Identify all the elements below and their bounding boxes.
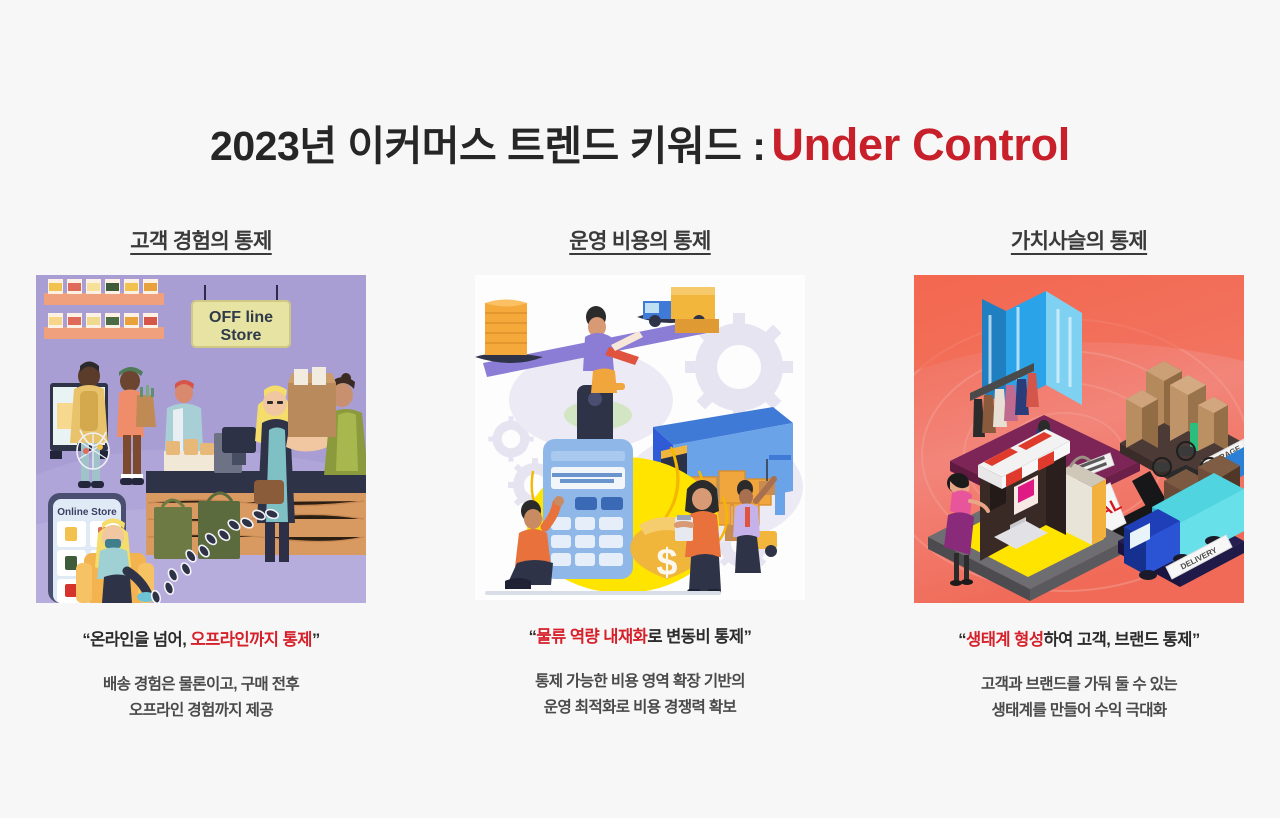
column-value-chain: 가치사슬의 통제 xyxy=(911,225,1247,745)
column-heading: 가치사슬의 통제 xyxy=(1011,225,1147,255)
logistics-cost-illustration: $ xyxy=(475,275,805,600)
page-title: 2023년 이커머스 트렌드 키워드 :Under Control xyxy=(0,112,1280,172)
quote-open: “ xyxy=(958,631,966,649)
columns-container: 고객 경험의 통제 xyxy=(0,225,1280,745)
column-customer-experience: 고객 경험의 통제 xyxy=(33,225,369,745)
description-line-2: 오프라인 경험까지 제공 xyxy=(103,698,299,724)
svg-text:Store: Store xyxy=(221,327,262,344)
offline-online-store-illustration: OFF line Store xyxy=(36,275,366,603)
column-quote: “물류 역량 내재화로 변동비 통제” xyxy=(529,623,752,647)
quote-highlight: 오프라인까지 통제 xyxy=(190,631,312,649)
description-line-1: 배송 경험은 물론이고, 구매 전후 xyxy=(103,672,299,698)
quote-plain-after: 로 변동비 통제 xyxy=(647,628,743,646)
quote-close: ” xyxy=(312,631,320,649)
column-description: 통제 가능한 비용 영역 확장 기반의 운영 최적화로 비용 경쟁력 확보 xyxy=(535,669,745,720)
column-quote: “온라인을 넘어, 오프라인까지 통제” xyxy=(82,626,319,650)
description-line-2: 운영 최적화로 비용 경쟁력 확보 xyxy=(535,695,745,721)
column-operating-cost: 운영 비용의 통제 xyxy=(472,225,808,745)
svg-text:OFF line: OFF line xyxy=(209,309,273,326)
description-line-1: 통제 가능한 비용 영역 확장 기반의 xyxy=(535,669,745,695)
column-heading: 고객 경험의 통제 xyxy=(130,225,272,255)
quote-close: ” xyxy=(1192,631,1200,649)
column-quote: “생태계 형성하여 고객, 브랜드 통제” xyxy=(958,626,1199,650)
infographic-page: 2023년 이커머스 트렌드 키워드 :Under Control 고객 경험의… xyxy=(0,0,1280,818)
column-heading: 운영 비용의 통제 xyxy=(569,225,711,255)
quote-plain-after: 하여 고객, 브랜드 통제 xyxy=(1044,631,1192,649)
column-description: 배송 경험은 물론이고, 구매 전후 오프라인 경험까지 제공 xyxy=(103,672,299,723)
svg-text:Online Store: Online Store xyxy=(57,507,117,518)
coin-stack xyxy=(485,300,527,356)
page-title-korean: 2023년 이커머스 트렌드 키워드 : xyxy=(210,123,765,169)
page-title-english: Under Control xyxy=(771,119,1070,170)
quote-plain-before: 온라인을 넘어, xyxy=(90,631,190,649)
quote-highlight: 물류 역량 내재화 xyxy=(536,628,647,646)
column-description: 고객과 브랜드를 가둬 둘 수 있는 생태계를 만들어 수익 극대화 xyxy=(981,672,1177,723)
description-line-1: 고객과 브랜드를 가둬 둘 수 있는 xyxy=(981,672,1177,698)
quote-close: ” xyxy=(744,628,752,646)
quote-open: “ xyxy=(82,631,90,649)
currency-symbol: $ xyxy=(656,542,677,584)
description-line-2: 생태계를 만들어 수익 극대화 xyxy=(981,698,1177,724)
value-chain-ecosystem-illustration: STORAGE VERTICAL xyxy=(914,275,1244,603)
quote-highlight: 생태계 형성 xyxy=(966,631,1043,649)
